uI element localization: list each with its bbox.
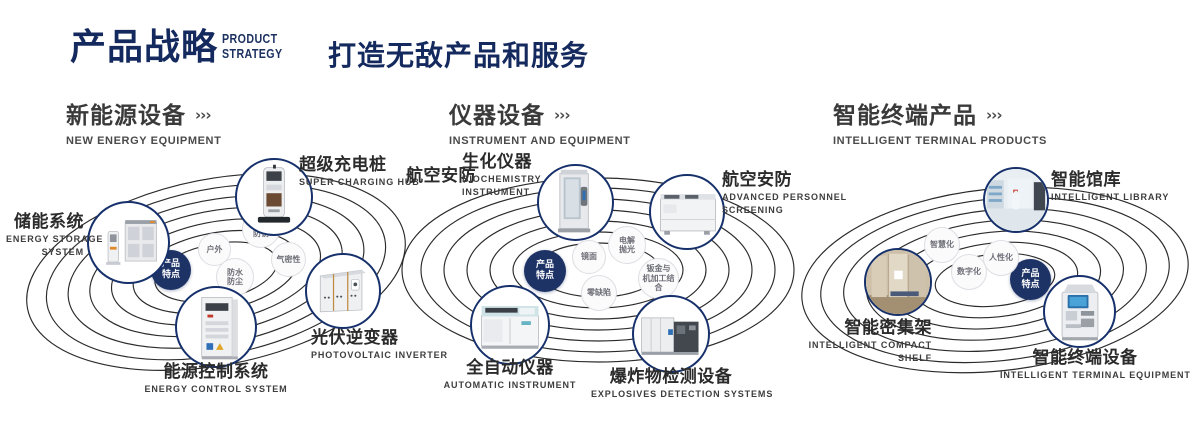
intelligent-compact-shelf-photo: [866, 250, 930, 314]
photovoltaic-inverter-photo: [307, 255, 379, 327]
label-automatic-instrument: 全自动仪器 AUTOMATIC INSTRUMENT: [430, 358, 590, 391]
label-cn: 航空安防: [376, 166, 476, 186]
section-heading-cn: 新能源设备›››: [66, 96, 221, 130]
label-cn: 储能系统: [6, 212, 84, 232]
label-en-line1: ENERGY STORAGE: [6, 234, 84, 245]
feature-bubble-digital: 数字化: [951, 254, 987, 290]
cluster-intelligent-terminal: 产品特点 智慧化 数字化 人性化 智能馆库 INTELLIGENT LIB: [795, 150, 1195, 405]
label-en-line2: SHELF: [777, 353, 932, 364]
label-cn: 智能馆库: [1051, 170, 1169, 190]
label-en-line1: INTELLIGENT COMPACT: [777, 340, 932, 351]
node-energy-control-system[interactable]: [175, 286, 257, 368]
label-cn: 生化仪器: [462, 152, 541, 172]
header: 产品战略 PRODUCT STRATEGY 打造无敌产品和服务: [0, 0, 1200, 88]
label-en-line1: EXPLOSIVES DETECTION SYSTEMS: [591, 389, 751, 400]
label-cn: 爆炸物检测设备: [591, 367, 751, 387]
automatic-instrument-photo: [472, 287, 548, 363]
core-badge-product-features: 产品特点: [524, 250, 566, 292]
intelligent-library-photo: [985, 169, 1047, 231]
label-en-line1: AUTOMATIC INSTRUMENT: [430, 380, 590, 391]
label-en-line1: INTELLIGENT LIBRARY: [1051, 192, 1169, 203]
label-energy-storage-system: 储能系统 ENERGY STORAGE SYSTEM: [6, 212, 84, 258]
label-cn: 全自动仪器: [430, 358, 590, 378]
section-heading-en: INTELLIGENT TERMINAL PRODUCTS: [833, 135, 1047, 147]
cluster-new-energy: 产品特点 户外 防腐防锈 防水防尘 气密性 储能系统 ENERGY STORAG…: [20, 150, 420, 405]
label-biochemistry-instrument: 生化仪器 BIOCHEMISTRY INSTRUMENT: [462, 152, 541, 198]
node-advanced-personnel-screening[interactable]: [649, 174, 725, 250]
section-heading-intelligent-terminal: 智能终端产品››› INTELLIGENT TERMINAL PRODUCTS: [833, 96, 1047, 147]
page-title-english: PRODUCT STRATEGY: [222, 31, 283, 61]
feature-bubble-sheetmetal-machining: 钣金与机加工结合: [638, 258, 679, 299]
label-en-line1: ENERGY CONTROL SYSTEM: [136, 384, 296, 395]
chevron-right-icon: ›››: [986, 106, 1002, 124]
feature-bubble-airtight: 气密性: [271, 242, 306, 277]
feature-bubble-humanized: 人性化: [983, 240, 1019, 276]
intelligent-terminal-equipment-photo: [1045, 277, 1114, 346]
node-intelligent-compact-shelf[interactable]: [864, 248, 932, 316]
energy-control-system-photo: [177, 288, 255, 366]
feature-bubble-zero-defect: 零缺陷: [581, 275, 617, 311]
label-en-line2: SYSTEM: [6, 247, 84, 258]
feature-bubble-electropolishing: 电解抛光: [608, 226, 646, 264]
cluster-instrument: 产品特点 镜面 电解抛光 零缺陷 钣金与机加工结合 航空安防 生化仪器 BIOC…: [400, 150, 800, 405]
label-energy-control-system: 能源控制系统 ENERGY CONTROL SYSTEM: [136, 362, 296, 395]
section-heading-instrument: 仪器设备››› INSTRUMENT AND EQUIPMENT: [449, 96, 630, 147]
chevron-right-icon: ›››: [554, 106, 570, 124]
label-en-line1: INTELLIGENT TERMINAL EQUIPMENT: [1000, 370, 1170, 381]
section-heading-new-energy: 新能源设备››› NEW ENERGY EQUIPMENT: [66, 96, 221, 147]
node-biochemistry-instrument[interactable]: [537, 164, 614, 241]
label-intelligent-compact-shelf: 智能密集架 INTELLIGENT COMPACT SHELF: [777, 318, 932, 364]
node-intelligent-terminal-equipment[interactable]: [1043, 275, 1116, 348]
section-heading-cn: 仪器设备›››: [449, 96, 630, 130]
biochemistry-instrument-photo: [539, 166, 612, 239]
page-title: 产品战略: [70, 26, 218, 70]
label-cn: 智能终端设备: [1000, 348, 1170, 368]
label-en-line2: INSTRUMENT: [462, 187, 541, 198]
label-intelligent-terminal-equipment: 智能终端设备 INTELLIGENT TERMINAL EQUIPMENT: [1000, 348, 1170, 381]
page-title-english-line1: PRODUCT: [222, 31, 283, 46]
node-intelligent-library[interactable]: [983, 167, 1049, 233]
node-explosives-detection[interactable]: [632, 295, 710, 373]
page-title-english-line2: STRATEGY: [222, 46, 283, 61]
explosives-detection-photo: [634, 297, 708, 371]
page-subtitle: 打造无敌产品和服务: [328, 34, 589, 74]
node-automatic-instrument[interactable]: [470, 285, 550, 365]
label-explosives-detection: 爆炸物检测设备 EXPLOSIVES DETECTION SYSTEMS: [591, 367, 751, 400]
product-strategy-infographic: 产品战略 PRODUCT STRATEGY 打造无敌产品和服务 新能源设备›››…: [0, 0, 1200, 422]
section-heading-en: INSTRUMENT AND EQUIPMENT: [449, 135, 630, 147]
label-cn: 能源控制系统: [136, 362, 296, 382]
label-en-line1: BIOCHEMISTRY: [462, 174, 541, 185]
feature-bubble-mirror-finish: 镜面: [572, 240, 606, 274]
advanced-personnel-screening-photo: [651, 176, 723, 248]
label-intelligent-library: 智能馆库 INTELLIGENT LIBRARY: [1051, 170, 1169, 203]
section-heading-en: NEW ENERGY EQUIPMENT: [66, 135, 221, 147]
node-photovoltaic-inverter[interactable]: [305, 253, 381, 329]
chevron-right-icon: ›››: [195, 106, 211, 124]
label-aviation-security-left: 航空安防: [376, 166, 476, 186]
label-cn: 智能密集架: [777, 318, 932, 338]
section-heading-cn: 智能终端产品›››: [833, 96, 1047, 130]
